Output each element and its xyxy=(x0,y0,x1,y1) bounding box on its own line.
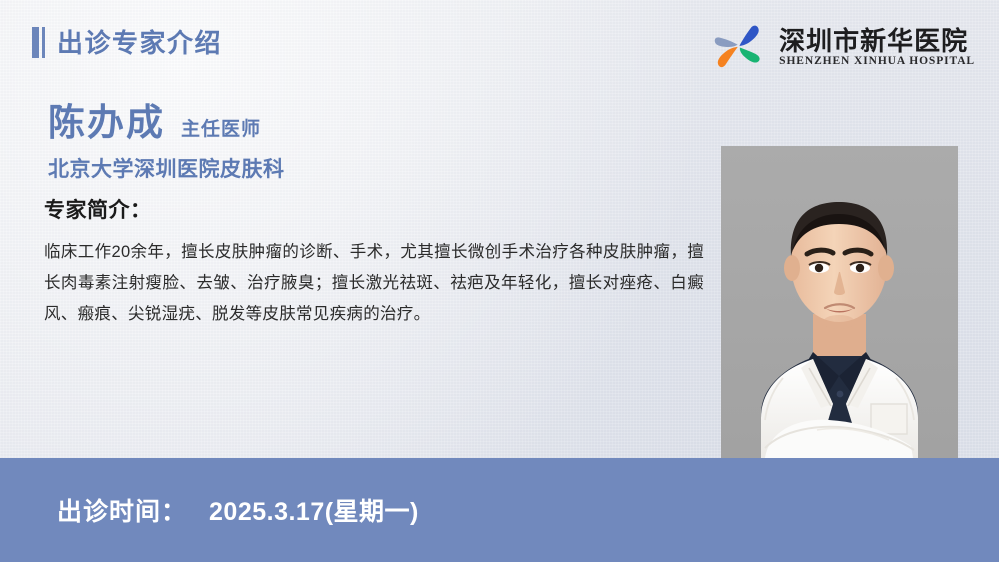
schedule-date-value: 2025.3.17(星期一) xyxy=(209,492,419,528)
doctor-biography: 专家简介： 临床工作20余年，擅长皮肤肿瘤的诊断、手术，尤其擅长微创手术治疗各种… xyxy=(44,194,704,330)
biography-heading: 专家简介： xyxy=(44,194,704,224)
doctor-rank-badge: 主任医师 xyxy=(181,114,261,141)
expert-introduction-poster: 出诊专家介绍 深圳市新华医院 SHENZHEN XINHUA HOSPITAL … xyxy=(0,0,999,562)
hospital-name-cn: 深圳市新华医院 xyxy=(779,28,968,55)
doctor-name: 陈办成 xyxy=(48,103,165,144)
pinwheel-logo-icon xyxy=(711,18,769,76)
hospital-logo-text: 深圳市新华医院 SHENZHEN XINHUA HOSPITAL xyxy=(779,26,975,68)
accent-bar-icon xyxy=(32,27,45,58)
hospital-logo: 深圳市新华医院 SHENZHEN XINHUA HOSPITAL xyxy=(711,18,975,76)
doctor-portrait-photo xyxy=(721,146,958,458)
doctor-identity: 陈办成 主任医师 北京大学深圳医院皮肤科 xyxy=(48,103,688,183)
hospital-name-en: SHENZHEN XINHUA HOSPITAL xyxy=(779,56,975,68)
header-title: 出诊专家介绍 xyxy=(32,27,222,58)
doctor-name-row: 陈办成 主任医师 xyxy=(48,103,688,144)
header-title-label: 出诊专家介绍 xyxy=(57,30,222,56)
schedule-content: 出诊时间： 2025.3.17(星期一) xyxy=(0,492,419,528)
schedule-label: 出诊时间： xyxy=(57,492,187,528)
schedule-banner: 出诊时间： 2025.3.17(星期一) xyxy=(0,458,999,562)
biography-text: 临床工作20余年，擅长皮肤肿瘤的诊断、手术，尤其擅长微创手术治疗各种皮肤肿瘤，擅… xyxy=(44,237,704,330)
doctor-affiliation: 北京大学深圳医院皮肤科 xyxy=(48,153,688,183)
